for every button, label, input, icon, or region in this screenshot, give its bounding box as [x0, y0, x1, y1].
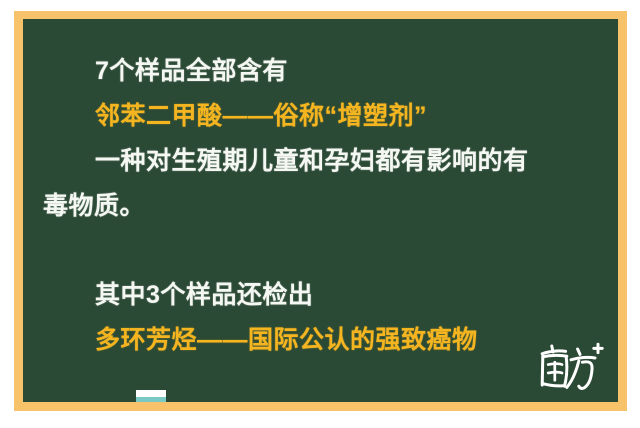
chalk-eraser-felt — [136, 397, 166, 402]
chalkboard-surface: 7个样品全部含有 邻苯二甲酸——俗称“增塑剂” 一种对生殖期儿童和孕妇都有影响的… — [23, 19, 618, 402]
chalk-line-4: 毒物质。 — [43, 184, 604, 229]
chalk-line-1: 7个样品全部含有 — [43, 49, 604, 94]
chalk-line-2-highlight: 邻苯二甲酸——俗称“增塑剂” — [43, 94, 604, 139]
chalk-line-5: 其中3个样品还检出 — [43, 273, 604, 318]
chalk-eraser — [136, 390, 166, 402]
nanfang-plus-logo: 南方+ — [532, 338, 604, 396]
chalk-line-3: 一种对生殖期儿童和孕妇都有影响的有 — [43, 139, 604, 184]
chalkboard-text-block: 7个样品全部含有 邻苯二甲酸——俗称“增塑剂” 一种对生殖期儿童和孕妇都有影响的… — [23, 19, 618, 402]
paragraph-spacer — [43, 229, 604, 273]
chalkboard-frame: 7个样品全部含有 邻苯二甲酸——俗称“增塑剂” 一种对生殖期儿童和孕妇都有影响的… — [14, 11, 627, 411]
nanfang-plus-logo-icon — [532, 338, 604, 396]
poster-canvas: 7个样品全部含有 邻苯二甲酸——俗称“增塑剂” 一种对生殖期儿童和孕妇都有影响的… — [0, 0, 640, 428]
chalk-eraser-top — [136, 390, 166, 397]
chalk-line-6-highlight: 多环芳烃——国际公认的强致癌物 — [43, 318, 604, 363]
